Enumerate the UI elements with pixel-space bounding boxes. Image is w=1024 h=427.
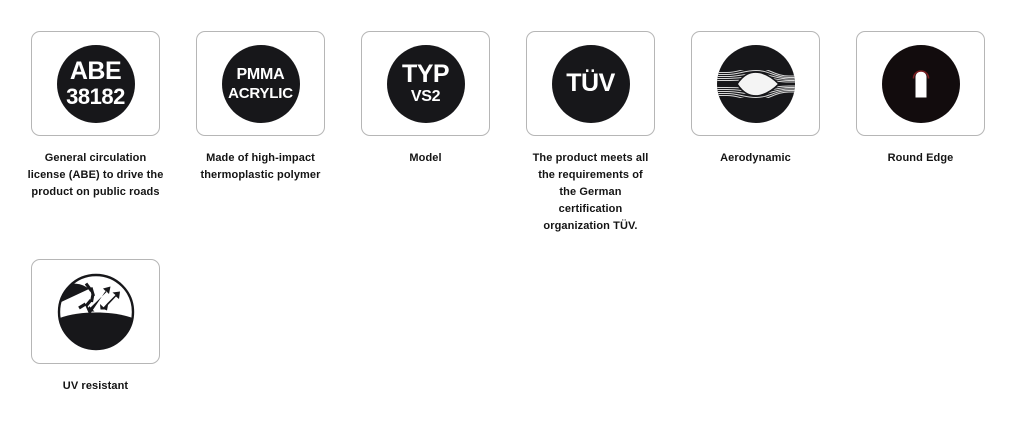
feature-item-aerodynamic: Aerodynamic bbox=[691, 31, 820, 167]
badge-card-pmma: PMMA ACRYLIC bbox=[196, 31, 325, 136]
typ-vs2-model-badge-icon: TYP VS2 bbox=[387, 45, 465, 123]
feature-caption-tuv: The product meets all the requirements o… bbox=[523, 150, 659, 235]
badge-card-model: TYP VS2 bbox=[361, 31, 490, 136]
feature-item-pmma: PMMA ACRYLIC Made of high-impact thermop… bbox=[196, 31, 325, 184]
model-badge-line1: TYP bbox=[402, 62, 449, 87]
feature-caption-round-edge: Round Edge bbox=[853, 150, 989, 167]
airfoil-airflow-icon bbox=[717, 45, 795, 123]
feature-item-model: TYP VS2 Model bbox=[361, 31, 490, 167]
model-badge-line2: VS2 bbox=[411, 89, 440, 105]
tuv-certification-badge-icon: TÜV bbox=[552, 45, 630, 123]
feature-item-round-edge: Round Edge bbox=[856, 31, 985, 167]
feature-caption-abe: General circulation license (ABE) to dri… bbox=[28, 150, 164, 201]
feature-item-uv-resistant: UV resistant bbox=[31, 259, 160, 395]
feature-item-tuv: TÜV The product meets all the requiremen… bbox=[526, 31, 655, 235]
feature-item-abe: ABE 38182 General circulation license (A… bbox=[31, 31, 160, 201]
feature-caption-model: Model bbox=[358, 150, 494, 167]
pmma-badge-line2: ACRYLIC bbox=[228, 86, 293, 101]
abe-badge-line2: 38182 bbox=[66, 86, 125, 108]
feature-caption-pmma: Made of high-impact thermoplastic polyme… bbox=[193, 150, 329, 184]
badge-card-round-edge bbox=[856, 31, 985, 136]
badge-card-aerodynamic bbox=[691, 31, 820, 136]
badge-card-abe: ABE 38182 bbox=[31, 31, 160, 136]
feature-caption-uv-resistant: UV resistant bbox=[28, 378, 164, 395]
pmma-badge-line1: PMMA bbox=[236, 67, 284, 83]
badge-card-tuv: TÜV bbox=[526, 31, 655, 136]
feature-caption-aerodynamic: Aerodynamic bbox=[688, 150, 824, 167]
abe-certification-badge-icon: ABE 38182 bbox=[57, 45, 135, 123]
pmma-acrylic-badge-icon: PMMA ACRYLIC bbox=[222, 45, 300, 123]
abe-badge-line1: ABE bbox=[70, 59, 121, 84]
feature-badge-grid: ABE 38182 General circulation license (A… bbox=[0, 0, 1024, 419]
badge-card-uv-resistant bbox=[31, 259, 160, 364]
tuv-badge-line1: TÜV bbox=[566, 71, 615, 96]
round-edge-profile-icon bbox=[882, 45, 960, 123]
sun-uv-resistant-icon bbox=[57, 273, 135, 351]
